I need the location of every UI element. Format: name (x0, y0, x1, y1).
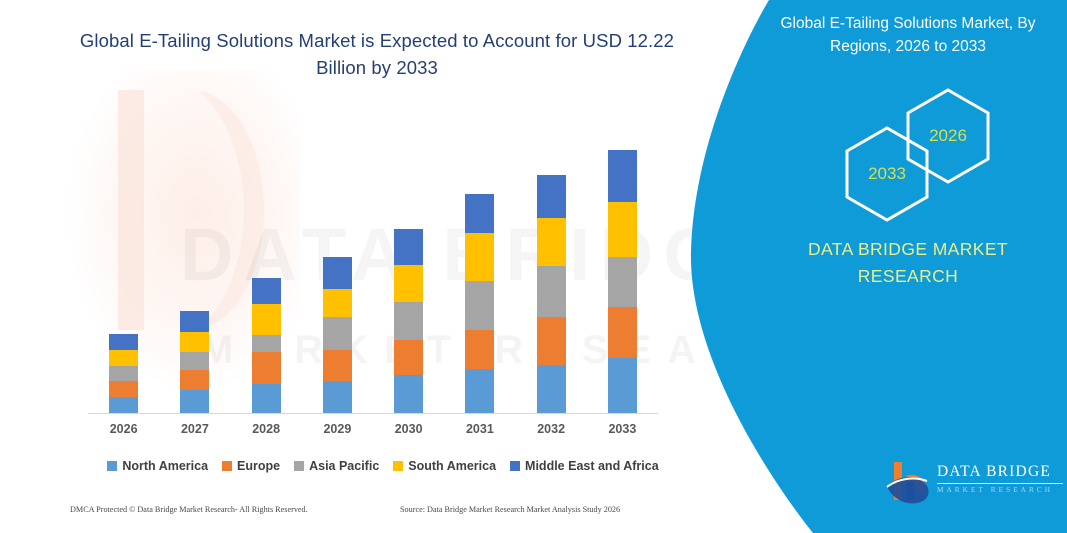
bar-segment-middle-east-and-africa (323, 257, 352, 290)
data-bridge-logo-icon (885, 460, 933, 506)
bar-segment-middle-east-and-africa (252, 278, 281, 304)
bar-segment-asia-pacific (608, 257, 637, 308)
legend-label: Middle East and Africa (525, 459, 659, 473)
x-axis-label-2030: 2030 (380, 422, 438, 436)
hexagon-badges: 2026 2033 (745, 86, 1067, 206)
x-axis-label-2027: 2027 (166, 422, 224, 436)
bar-segment-asia-pacific (537, 266, 566, 317)
logo-title: DATA BRIDGE (937, 463, 1067, 480)
legend-swatch-icon (510, 461, 520, 471)
brand-name-line2: RESEARCH (753, 263, 1063, 290)
brand-name-line1: DATA BRIDGE MARKET (753, 236, 1063, 263)
chart-legend: North AmericaEuropeAsia PacificSouth Ame… (88, 456, 678, 476)
bar-segment-asia-pacific (394, 302, 423, 340)
bar-segment-north-america (608, 358, 637, 413)
bar-2031 (465, 194, 494, 413)
footer-source: Source: Data Bridge Market Research Mark… (400, 505, 620, 514)
bar-2032 (537, 175, 566, 413)
legend-swatch-icon (107, 461, 117, 471)
x-axis-labels: 20262027202820292030203120322033 (88, 422, 658, 444)
legend-swatch-icon (294, 461, 304, 471)
hex-badge-2033: 2033 (841, 124, 933, 224)
legend-swatch-icon (222, 461, 232, 471)
bar-segment-asia-pacific (109, 366, 138, 382)
bar-segment-north-america (323, 381, 352, 413)
bar-segment-north-america (537, 365, 566, 413)
stacked-bar-chart (88, 118, 658, 414)
bar-segment-europe (394, 340, 423, 375)
bar-segment-south-america (465, 233, 494, 281)
bar-segment-asia-pacific (252, 335, 281, 352)
x-axis-label-2029: 2029 (308, 422, 366, 436)
x-axis-label-2026: 2026 (95, 422, 153, 436)
bar-segment-europe (109, 381, 138, 397)
hexagon-icon (841, 124, 933, 224)
bar-segment-south-america (252, 304, 281, 335)
bar-2027 (180, 311, 209, 413)
bar-segment-middle-east-and-africa (109, 334, 138, 350)
bar-2033 (608, 150, 637, 413)
bar-segment-middle-east-and-africa (465, 194, 494, 233)
bar-segment-europe (537, 317, 566, 366)
bar-2028 (252, 278, 281, 413)
left-panel: Global E-Tailing Solutions Market is Exp… (0, 0, 760, 533)
bar-segment-europe (180, 370, 209, 390)
right-panel-title: Global E-Tailing Solutions Market, By Re… (753, 12, 1063, 59)
bar-segment-south-america (608, 202, 637, 257)
bar-segment-north-america (252, 384, 281, 413)
bar-segment-europe (465, 330, 494, 369)
bar-segment-middle-east-and-africa (180, 311, 209, 332)
legend-label: North America (122, 459, 208, 473)
bar-segment-south-america (394, 265, 423, 302)
bar-segment-europe (608, 307, 637, 358)
hexagon-icon (902, 86, 994, 186)
bar-segment-europe (252, 352, 281, 385)
bar-segment-south-america (323, 289, 352, 316)
bar-segment-south-america (109, 350, 138, 366)
logo-divider (937, 483, 1063, 484)
bar-segment-north-america (109, 397, 138, 413)
legend-label: South America (408, 459, 496, 473)
right-panel-content: Global E-Tailing Solutions Market, By Re… (745, 0, 1067, 533)
footer-copyright: DMCA Protected © Data Bridge Market Rese… (70, 505, 308, 514)
logo-text: DATA BRIDGE MARKET RESEARCH (937, 463, 1067, 494)
page-title: Global E-Tailing Solutions Market is Exp… (72, 28, 682, 82)
legend-label: Europe (237, 459, 280, 473)
x-axis-label-2028: 2028 (237, 422, 295, 436)
hex-badge-2033-label: 2033 (841, 124, 933, 224)
bar-segment-asia-pacific (465, 281, 494, 330)
bar-segment-asia-pacific (180, 352, 209, 370)
legend-item-north-america[interactable]: North America (107, 459, 208, 473)
bar-segment-north-america (465, 369, 494, 413)
bar-segment-europe (323, 350, 352, 382)
infographic-root: Global E-Tailing Solutions Market is Exp… (0, 0, 1067, 533)
bar-segment-asia-pacific (323, 317, 352, 350)
brand-name: DATA BRIDGE MARKET RESEARCH (753, 236, 1063, 290)
x-axis-label-2033: 2033 (593, 422, 651, 436)
legend-item-europe[interactable]: Europe (222, 459, 280, 473)
bar-segment-middle-east-and-africa (394, 229, 423, 265)
legend-item-middle-east-and-africa[interactable]: Middle East and Africa (510, 459, 659, 473)
x-axis-label-2032: 2032 (522, 422, 580, 436)
company-logo: DATA BRIDGE MARKET RESEARCH (885, 456, 1065, 512)
bar-2026 (109, 334, 138, 413)
legend-item-asia-pacific[interactable]: Asia Pacific (294, 459, 379, 473)
bar-segment-north-america (394, 375, 423, 413)
chart-plot-area (88, 118, 658, 414)
footer: DMCA Protected © Data Bridge Market Rese… (0, 505, 760, 527)
logo-subtitle: MARKET RESEARCH (937, 486, 1067, 494)
legend-item-south-america[interactable]: South America (393, 459, 496, 473)
bar-segment-south-america (537, 218, 566, 267)
legend-swatch-icon (393, 461, 403, 471)
bar-segment-north-america (180, 390, 209, 413)
bar-2030 (394, 229, 423, 413)
hex-badge-2026: 2026 (902, 86, 994, 186)
bar-segment-middle-east-and-africa (537, 175, 566, 217)
hex-badge-2026-label: 2026 (902, 86, 994, 186)
bar-2029 (323, 257, 352, 413)
x-axis-line (88, 413, 658, 414)
legend-label: Asia Pacific (309, 459, 379, 473)
x-axis-label-2031: 2031 (451, 422, 509, 436)
bar-segment-south-america (180, 332, 209, 352)
bar-segment-middle-east-and-africa (608, 150, 637, 202)
